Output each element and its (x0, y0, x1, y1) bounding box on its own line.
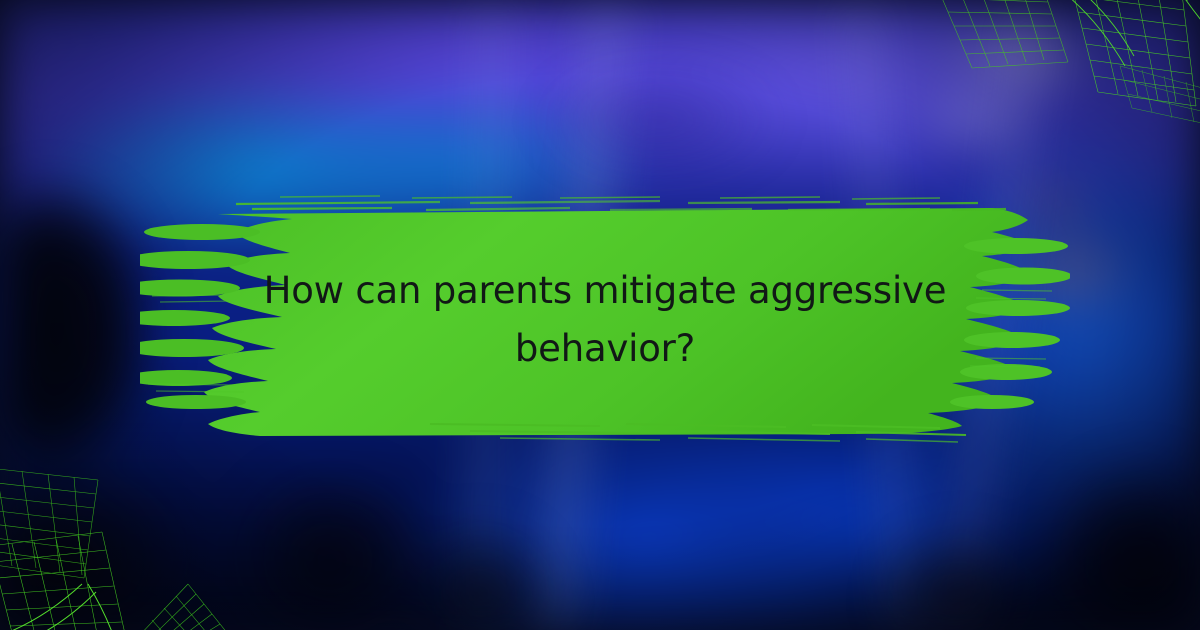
wireframe-mesh-icon-top-right (920, 0, 1200, 210)
poster-canvas: How can parents mitigate aggressive beha… (0, 0, 1200, 630)
page-title: How can parents mitigate aggressive beha… (240, 262, 970, 378)
